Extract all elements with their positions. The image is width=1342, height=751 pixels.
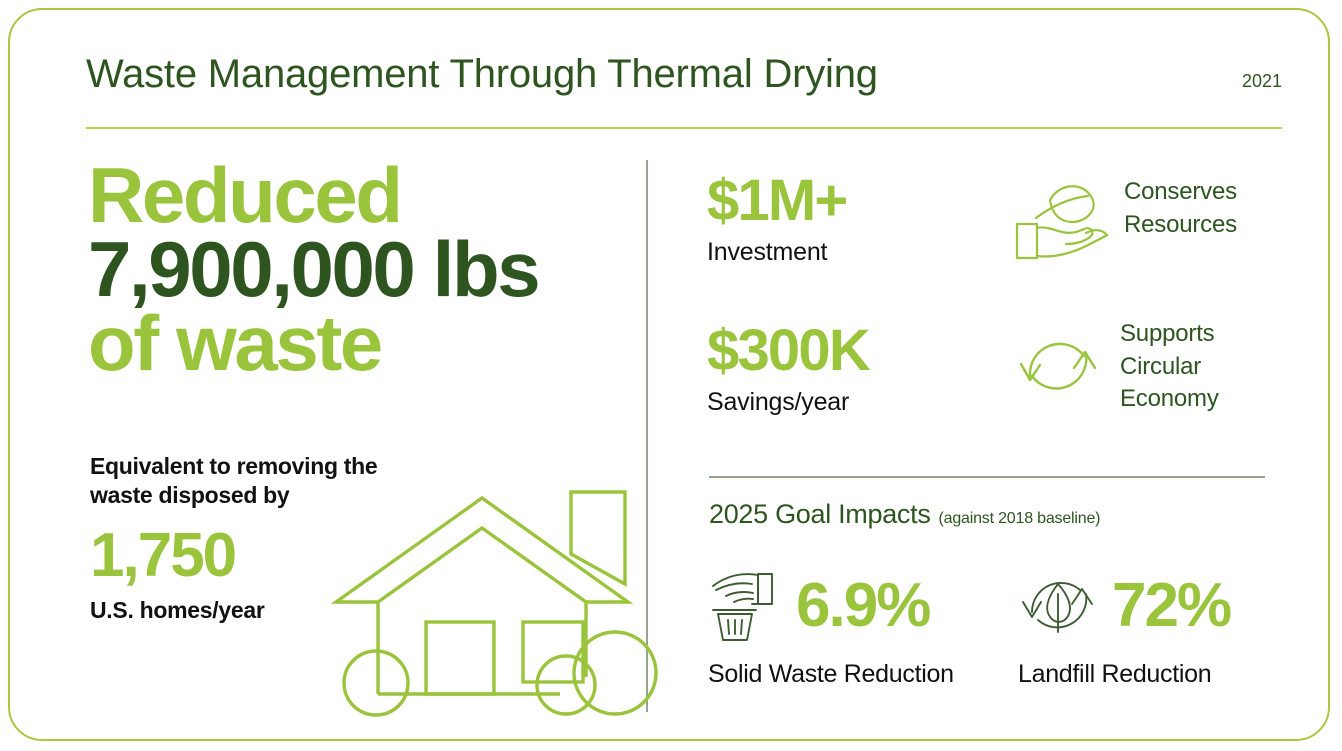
goals-title: 2025 Goal Impacts: [709, 499, 931, 530]
headline: Reduced 7,900,000 lbs of waste: [88, 158, 628, 380]
benefit-conserves-resources-label: Conserves Resources: [1124, 176, 1237, 241]
impact-landfill: 72% Landfill Reduction: [1018, 566, 1230, 689]
hand-trash-icon: [708, 566, 788, 646]
hand-holding-leaf-icon: [1014, 176, 1110, 262]
stat-investment-value: $1M+: [707, 172, 847, 230]
header: Waste Management Through Thermal Drying …: [86, 52, 1282, 126]
benefit-circular-economy: Supports Circular Economy: [1010, 318, 1219, 416]
headline-line-3: of waste: [88, 306, 628, 380]
house-icon: [328, 480, 628, 712]
impact-solid-waste-label: Solid Waste Reduction: [708, 660, 954, 689]
stat-investment-label: Investment: [707, 238, 847, 267]
headline-line-1: Reduced: [88, 158, 628, 232]
stat-investment: $1M+ Investment: [707, 172, 847, 267]
impact-solid-waste: 6.9% Solid Waste Reduction: [708, 566, 954, 689]
goals-baseline-note: (against 2018 baseline): [939, 510, 1101, 528]
circular-arrows-icon: [1010, 318, 1106, 410]
benefit-conserves-resources: Conserves Resources: [1014, 176, 1237, 262]
year-label: 2021: [1242, 71, 1282, 92]
stat-savings-label: Savings/year: [707, 388, 869, 417]
goals-divider: [709, 476, 1265, 478]
page-title: Waste Management Through Thermal Drying: [86, 52, 878, 96]
stat-savings: $300K Savings/year: [707, 322, 869, 417]
header-divider: [86, 127, 1282, 129]
impact-landfill-label: Landfill Reduction: [1018, 660, 1230, 689]
impact-solid-waste-value: 6.9%: [796, 575, 929, 637]
column-divider: [646, 160, 648, 712]
impact-landfill-value: 72%: [1112, 575, 1230, 637]
benefit-circular-economy-label: Supports Circular Economy: [1120, 318, 1219, 416]
headline-line-2: 7,900,000 lbs: [88, 232, 628, 306]
goals-header: 2025 Goal Impacts (against 2018 baseline…: [709, 499, 1100, 530]
headline-block: Reduced 7,900,000 lbs of waste: [88, 158, 628, 380]
stat-savings-value: $300K: [707, 322, 869, 380]
leaf-recycle-icon: [1018, 566, 1104, 646]
infographic-card: Waste Management Through Thermal Drying …: [8, 8, 1330, 741]
infographic-page: Waste Management Through Thermal Drying …: [0, 0, 1342, 751]
